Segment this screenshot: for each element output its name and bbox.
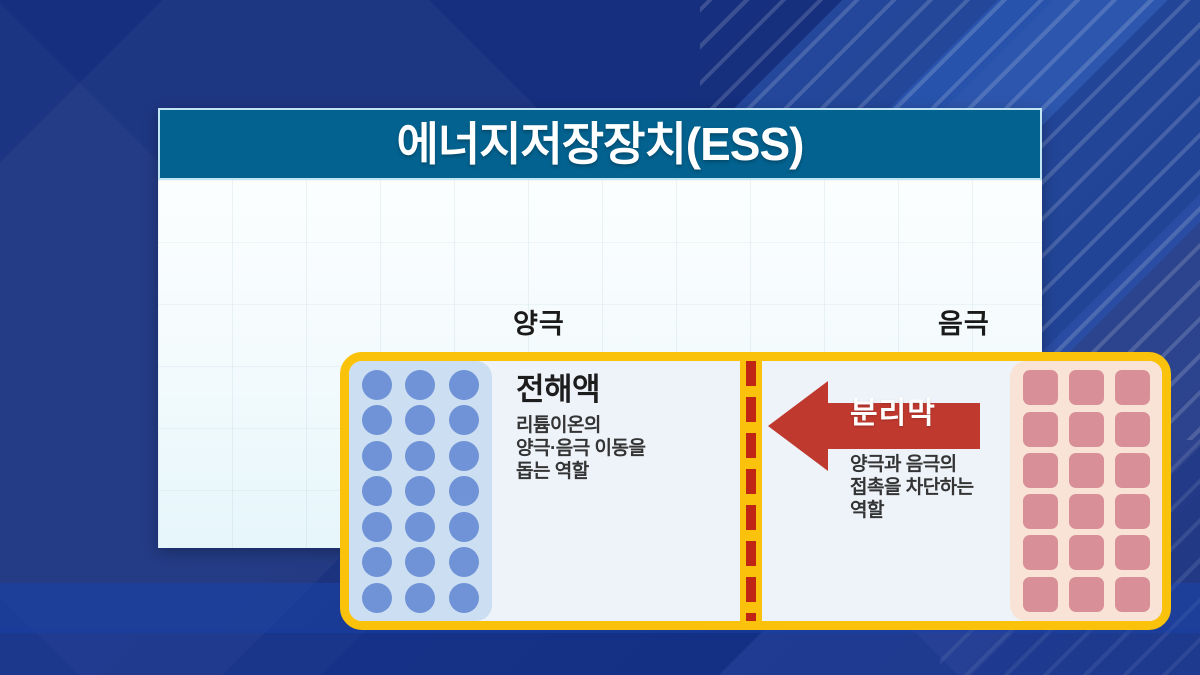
cathode-particle bbox=[1115, 494, 1150, 529]
electrolyte-description-line: 양극·음극 이동을 bbox=[516, 437, 746, 460]
cathode-particle bbox=[1115, 535, 1150, 570]
positive-electrode-pack bbox=[349, 361, 492, 621]
anode-particle bbox=[362, 547, 392, 577]
cathode-particle bbox=[1069, 412, 1104, 447]
electrolyte-description-line: 돕는 역할 bbox=[516, 460, 746, 483]
cathode-particle bbox=[1023, 370, 1058, 405]
separator-callout-zone: 분리막 양극과 음극의 접촉을 차단하는 역할 bbox=[762, 361, 1010, 621]
cathode-particle bbox=[1069, 535, 1104, 570]
cathode-particle bbox=[1069, 453, 1104, 488]
anode-particle bbox=[405, 583, 435, 613]
page-title: 에너지저장장치(ESS) bbox=[397, 121, 804, 167]
anode-particle bbox=[449, 405, 479, 435]
cathode-particle bbox=[1023, 577, 1058, 612]
cathode-particle bbox=[1023, 412, 1058, 447]
anode-particle bbox=[449, 476, 479, 506]
electrolyte-description: 리튬이온의 양극·음극 이동을 돕는 역할 bbox=[516, 414, 746, 484]
anode-particle bbox=[449, 547, 479, 577]
separator-label: 분리막 bbox=[850, 399, 936, 429]
anode-particle bbox=[405, 405, 435, 435]
anode-particle bbox=[362, 441, 392, 471]
anode-particle bbox=[449, 370, 479, 400]
background-bottom-band-2 bbox=[0, 629, 1200, 675]
title-bar: 에너지저장장치(ESS) bbox=[158, 108, 1042, 180]
cathode-particle bbox=[1115, 453, 1150, 488]
cathode-particle bbox=[1115, 370, 1150, 405]
electrolyte-description-line: 리튬이온의 bbox=[516, 414, 746, 437]
anode-particle bbox=[405, 512, 435, 542]
anode-particle bbox=[362, 583, 392, 613]
cathode-particle bbox=[1023, 535, 1058, 570]
anode-particle bbox=[405, 476, 435, 506]
electrolyte-title: 전해액 bbox=[516, 373, 746, 407]
cathode-particle bbox=[1115, 412, 1150, 447]
anode-particle bbox=[362, 405, 392, 435]
cathode-particle bbox=[1023, 494, 1058, 529]
anode-particle bbox=[362, 512, 392, 542]
electrolyte-zone: 전해액 리튬이온의 양극·음극 이동을 돕는 역할 bbox=[492, 361, 740, 621]
electrode-label-positive: 양극 bbox=[513, 302, 565, 341]
electrolyte-callout: 전해액 리튬이온의 양극·음극 이동을 돕는 역할 bbox=[516, 373, 746, 484]
separator-dashed-line bbox=[746, 361, 756, 621]
separator-membrane-strip bbox=[740, 361, 762, 621]
anode-particle bbox=[449, 441, 479, 471]
infographic-stage: 에너지저장장치(ESS) 양극 음극 전해액 리튬이온의 양극·음극 이동을 돕… bbox=[0, 0, 1200, 675]
anode-particle bbox=[449, 512, 479, 542]
cathode-particle bbox=[1115, 577, 1150, 612]
negative-electrode-pack bbox=[1010, 361, 1162, 621]
separator-callout: 분리막 양극과 음극의 접촉을 차단하는 역할 bbox=[762, 377, 1010, 507]
anode-particle bbox=[405, 547, 435, 577]
cathode-particle bbox=[1069, 494, 1104, 529]
anode-particle bbox=[449, 583, 479, 613]
cathode-particle bbox=[1023, 453, 1058, 488]
arrow-head bbox=[768, 381, 828, 471]
anode-particle bbox=[362, 370, 392, 400]
cathode-particle bbox=[1069, 370, 1104, 405]
infographic-panel: 에너지저장장치(ESS) 양극 음극 전해액 리튬이온의 양극·음극 이동을 돕… bbox=[158, 108, 1042, 548]
anode-particle bbox=[362, 476, 392, 506]
anode-particle bbox=[405, 441, 435, 471]
anode-particle bbox=[405, 370, 435, 400]
battery-cell-diagram: 전해액 리튬이온의 양극·음극 이동을 돕는 역할 분 bbox=[340, 352, 1171, 630]
cathode-particle bbox=[1069, 577, 1104, 612]
electrode-label-negative: 음극 bbox=[938, 302, 990, 341]
